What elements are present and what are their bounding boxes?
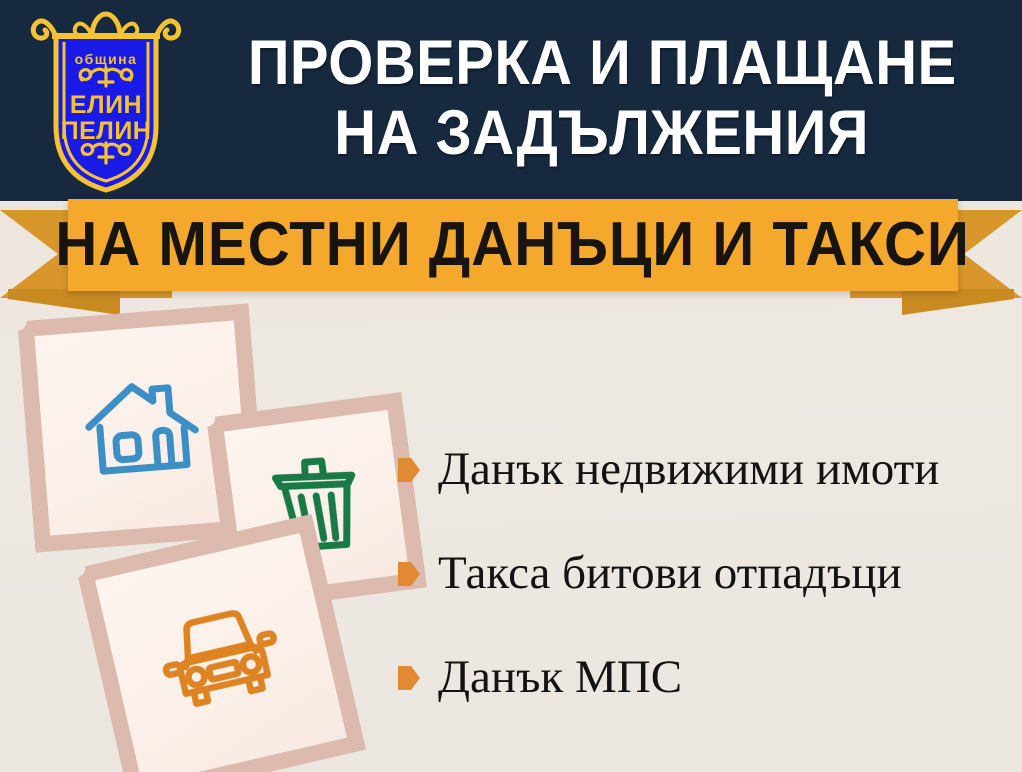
poster-title: ПРОВЕРКА И ПЛАЩАНЕ НА ЗАДЪЛЖЕНИЯ: [192, 14, 1012, 184]
municipality-crest-logo: община ЕЛИН ПЕЛИН: [22, 6, 190, 194]
svg-text:ЕЛИН: ЕЛИН: [70, 91, 142, 119]
header-banner: община ЕЛИН ПЕЛИН: [0, 0, 1022, 201]
tax-types-list: Данък недвижими имоти Такса битови отпад…: [398, 418, 1022, 730]
house-icon: [79, 372, 205, 485]
ribbon-label: НА МЕСТНИ ДАНЪЦИ И ТАКСИ: [56, 214, 971, 276]
list-item[interactable]: Данък недвижими имоти: [398, 418, 1022, 522]
ribbon-fold-right: [902, 289, 1014, 315]
subtitle-ribbon: НА МЕСТНИ ДАНЪЦИ И ТАКСИ: [0, 199, 1022, 311]
svg-text:ПЕЛИН: ПЕЛИН: [61, 117, 152, 145]
coat-of-arms-icon: община ЕЛИН ПЕЛИН: [22, 6, 190, 194]
svg-text:община: община: [75, 51, 138, 67]
list-item-label: Данък недвижими имоти: [438, 444, 939, 496]
list-item-label: Данък МПС: [438, 652, 682, 704]
list-item[interactable]: Такса битови отпадъци: [398, 522, 1022, 626]
poster-root: община ЕЛИН ПЕЛИН: [0, 0, 1022, 772]
list-item[interactable]: Данък МПС: [398, 626, 1022, 730]
title-line-2: НА ЗАДЪЛЖЕНИЯ: [335, 103, 870, 165]
title-line-1: ПРОВЕРКА И ПЛАЩАНЕ: [248, 33, 957, 95]
stamp-paper: [95, 533, 347, 772]
ribbon-body: НА МЕСТНИ ДАНЪЦИ И ТАКСИ: [68, 199, 958, 291]
bullet-arrow-icon: [398, 458, 420, 482]
list-item-label: Такса битови отпадъци: [438, 548, 902, 600]
bullet-arrow-icon: [398, 562, 420, 586]
bullet-arrow-icon: [398, 666, 420, 690]
stamp-cards-group: [0, 300, 430, 772]
car-front-icon: [151, 595, 291, 723]
